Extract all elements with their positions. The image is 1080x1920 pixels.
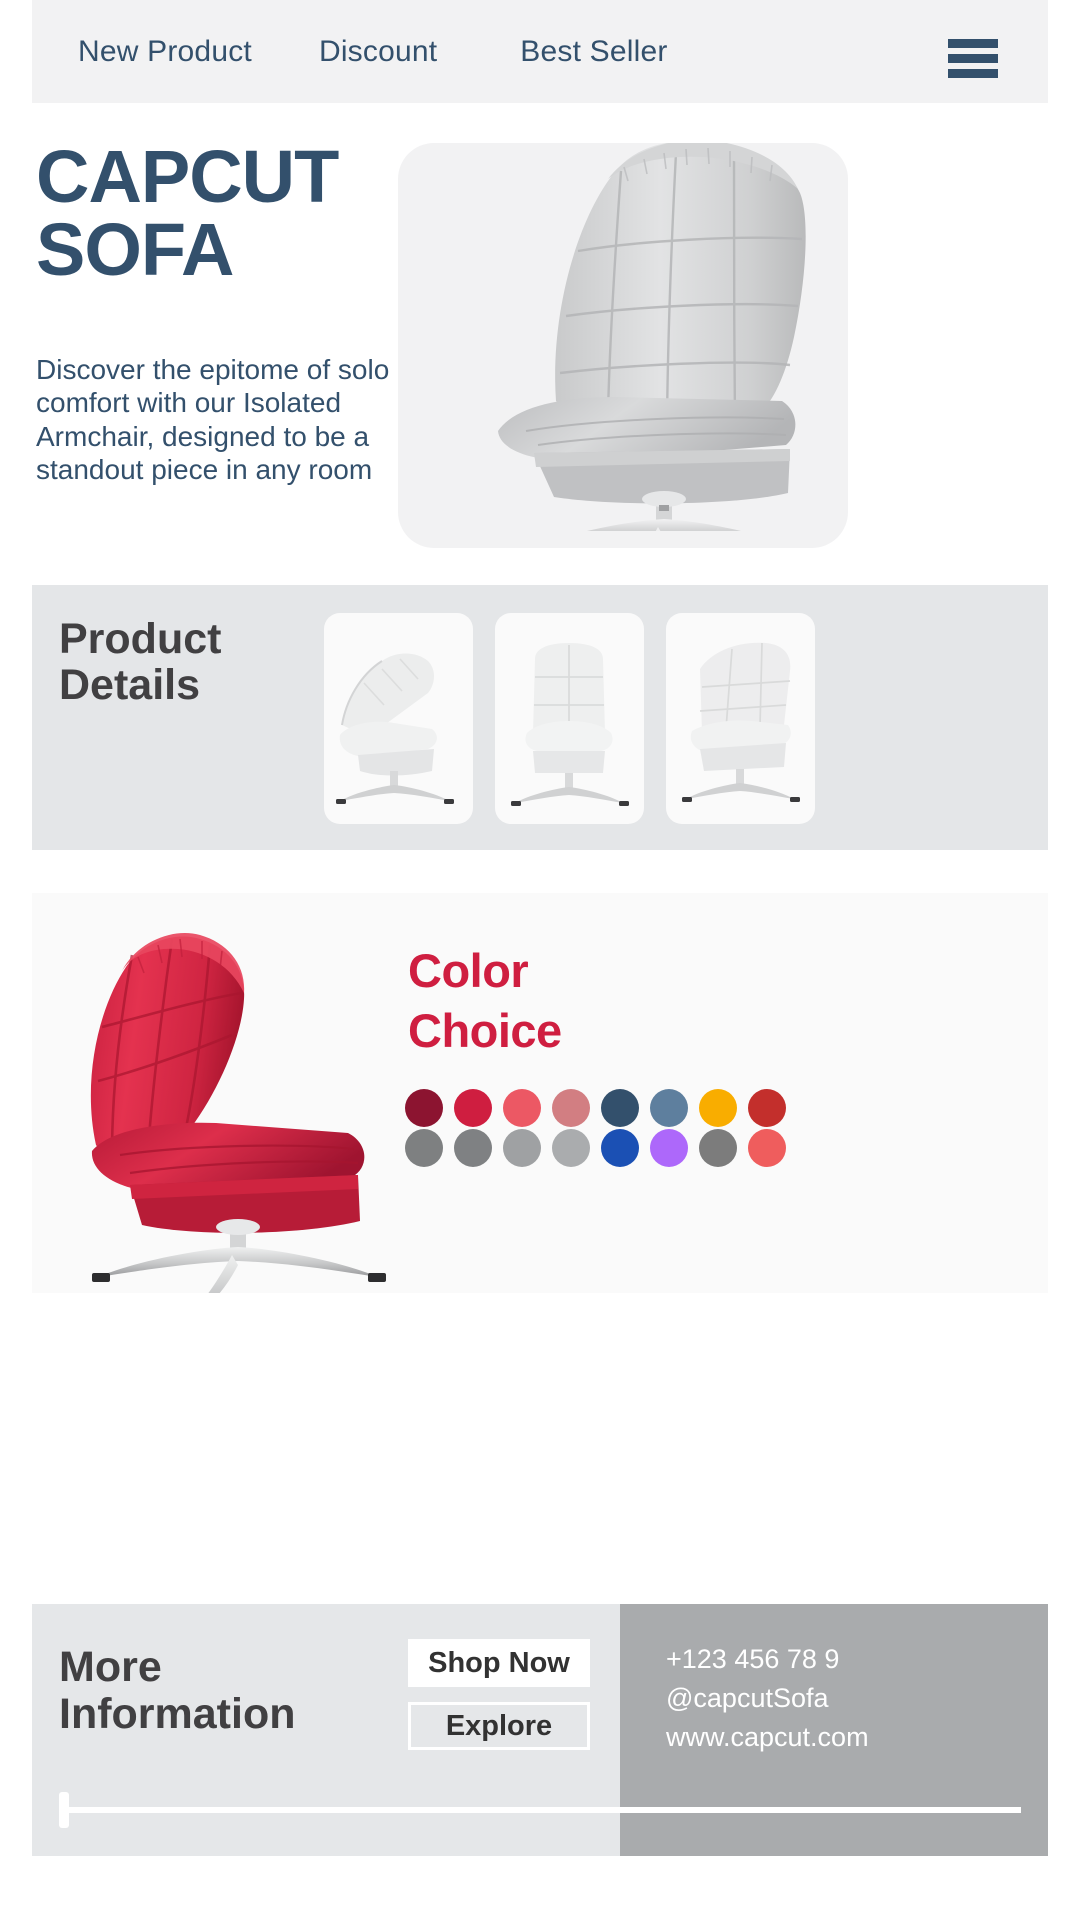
color-swatch-gray-60[interactable]: [454, 1129, 492, 1167]
color-choice-section: Color Choice: [32, 893, 1048, 1293]
color-swatch-gray-70[interactable]: [405, 1129, 443, 1167]
hero-section: CAPCUT SOFA Discover the epitome of solo…: [0, 103, 1080, 585]
armchair-side-icon: [324, 613, 473, 824]
nav-links: New Product Discount Best Seller: [48, 35, 668, 69]
product-details-section: Product Details: [32, 585, 1048, 850]
color-swatch-gray-35[interactable]: [552, 1129, 590, 1167]
product-thumbnail-front-view[interactable]: [495, 613, 644, 824]
footer-divider-cap: [59, 1792, 69, 1828]
more-info-title-line-2: Information: [59, 1691, 389, 1738]
color-swatch-salmon[interactable]: [748, 1129, 786, 1167]
color-swatch-dark-burgundy[interactable]: [405, 1089, 443, 1127]
color-title-line-2: Choice: [408, 1001, 562, 1061]
contact-panel: +123 456 78 9 @capcutSofa www.capcut.com: [620, 1604, 1048, 1856]
shop-now-button[interactable]: Shop Now: [408, 1639, 590, 1687]
contact-social-handle[interactable]: @capcutSofa: [666, 1679, 1048, 1718]
color-swatch-grid: [405, 1089, 786, 1167]
nav-item-discount[interactable]: Discount: [319, 35, 437, 69]
hamburger-bar-1: [948, 39, 998, 48]
more-info-title-line-1: More: [59, 1644, 389, 1691]
nav-item-best-seller[interactable]: Best Seller: [520, 35, 667, 69]
color-swatch-steel-blue[interactable]: [650, 1089, 688, 1127]
details-title-line-2: Details: [59, 662, 319, 708]
hero-title-line-2: SOFA: [36, 214, 456, 287]
nav-item-new-product[interactable]: New Product: [78, 35, 252, 69]
landing-page: New Product Discount Best Seller CAPCUT …: [0, 0, 1080, 1920]
hamburger-bar-3: [948, 69, 998, 78]
color-swatch-gray-45[interactable]: [503, 1129, 541, 1167]
red-armchair-svg: [32, 893, 422, 1293]
color-swatch-navy-slate[interactable]: [601, 1089, 639, 1127]
contact-website[interactable]: www.capcut.com: [666, 1718, 1048, 1757]
red-armchair-image: [32, 893, 422, 1293]
hamburger-menu-icon[interactable]: [948, 39, 998, 78]
explore-button[interactable]: Explore: [408, 1702, 590, 1750]
color-swatch-amber[interactable]: [699, 1089, 737, 1127]
details-title-line-1: Product: [59, 616, 319, 662]
product-details-title: Product Details: [59, 616, 319, 709]
hero-product-image-card: [398, 143, 848, 548]
product-thumbnail-side-view[interactable]: [324, 613, 473, 824]
top-navigation-bar: New Product Discount Best Seller: [32, 0, 1048, 103]
footer-divider-line: [59, 1807, 1021, 1813]
color-choice-title: Color Choice: [408, 941, 562, 1061]
color-swatch-gray-50[interactable]: [699, 1129, 737, 1167]
more-information-title: More Information: [59, 1644, 389, 1739]
hero-title-line-1: CAPCUT: [36, 141, 456, 214]
product-thumbnail-rear-view[interactable]: [666, 613, 815, 824]
contact-phone[interactable]: +123 456 78 9: [666, 1640, 1048, 1679]
product-thumbnail-list: [324, 613, 815, 824]
color-swatch-dusty-rose[interactable]: [552, 1089, 590, 1127]
armchair-rear-icon: [666, 613, 815, 824]
color-title-line-1: Color: [408, 941, 562, 1001]
hero-description: Discover the epitome of solo comfort wit…: [36, 353, 396, 486]
page-title: CAPCUT SOFA: [36, 141, 456, 286]
more-information-section: More Information Shop Now Explore +123 4…: [32, 1604, 1048, 1856]
color-swatch-royal-blue[interactable]: [601, 1129, 639, 1167]
color-swatch-crimson[interactable]: [454, 1089, 492, 1127]
color-swatch-violet[interactable]: [650, 1129, 688, 1167]
gray-armchair-image: [438, 143, 848, 531]
hamburger-bar-2: [948, 54, 998, 63]
color-swatch-coral-red[interactable]: [503, 1089, 541, 1127]
color-swatch-brick-red[interactable]: [748, 1089, 786, 1127]
armchair-front-icon: [495, 613, 644, 824]
